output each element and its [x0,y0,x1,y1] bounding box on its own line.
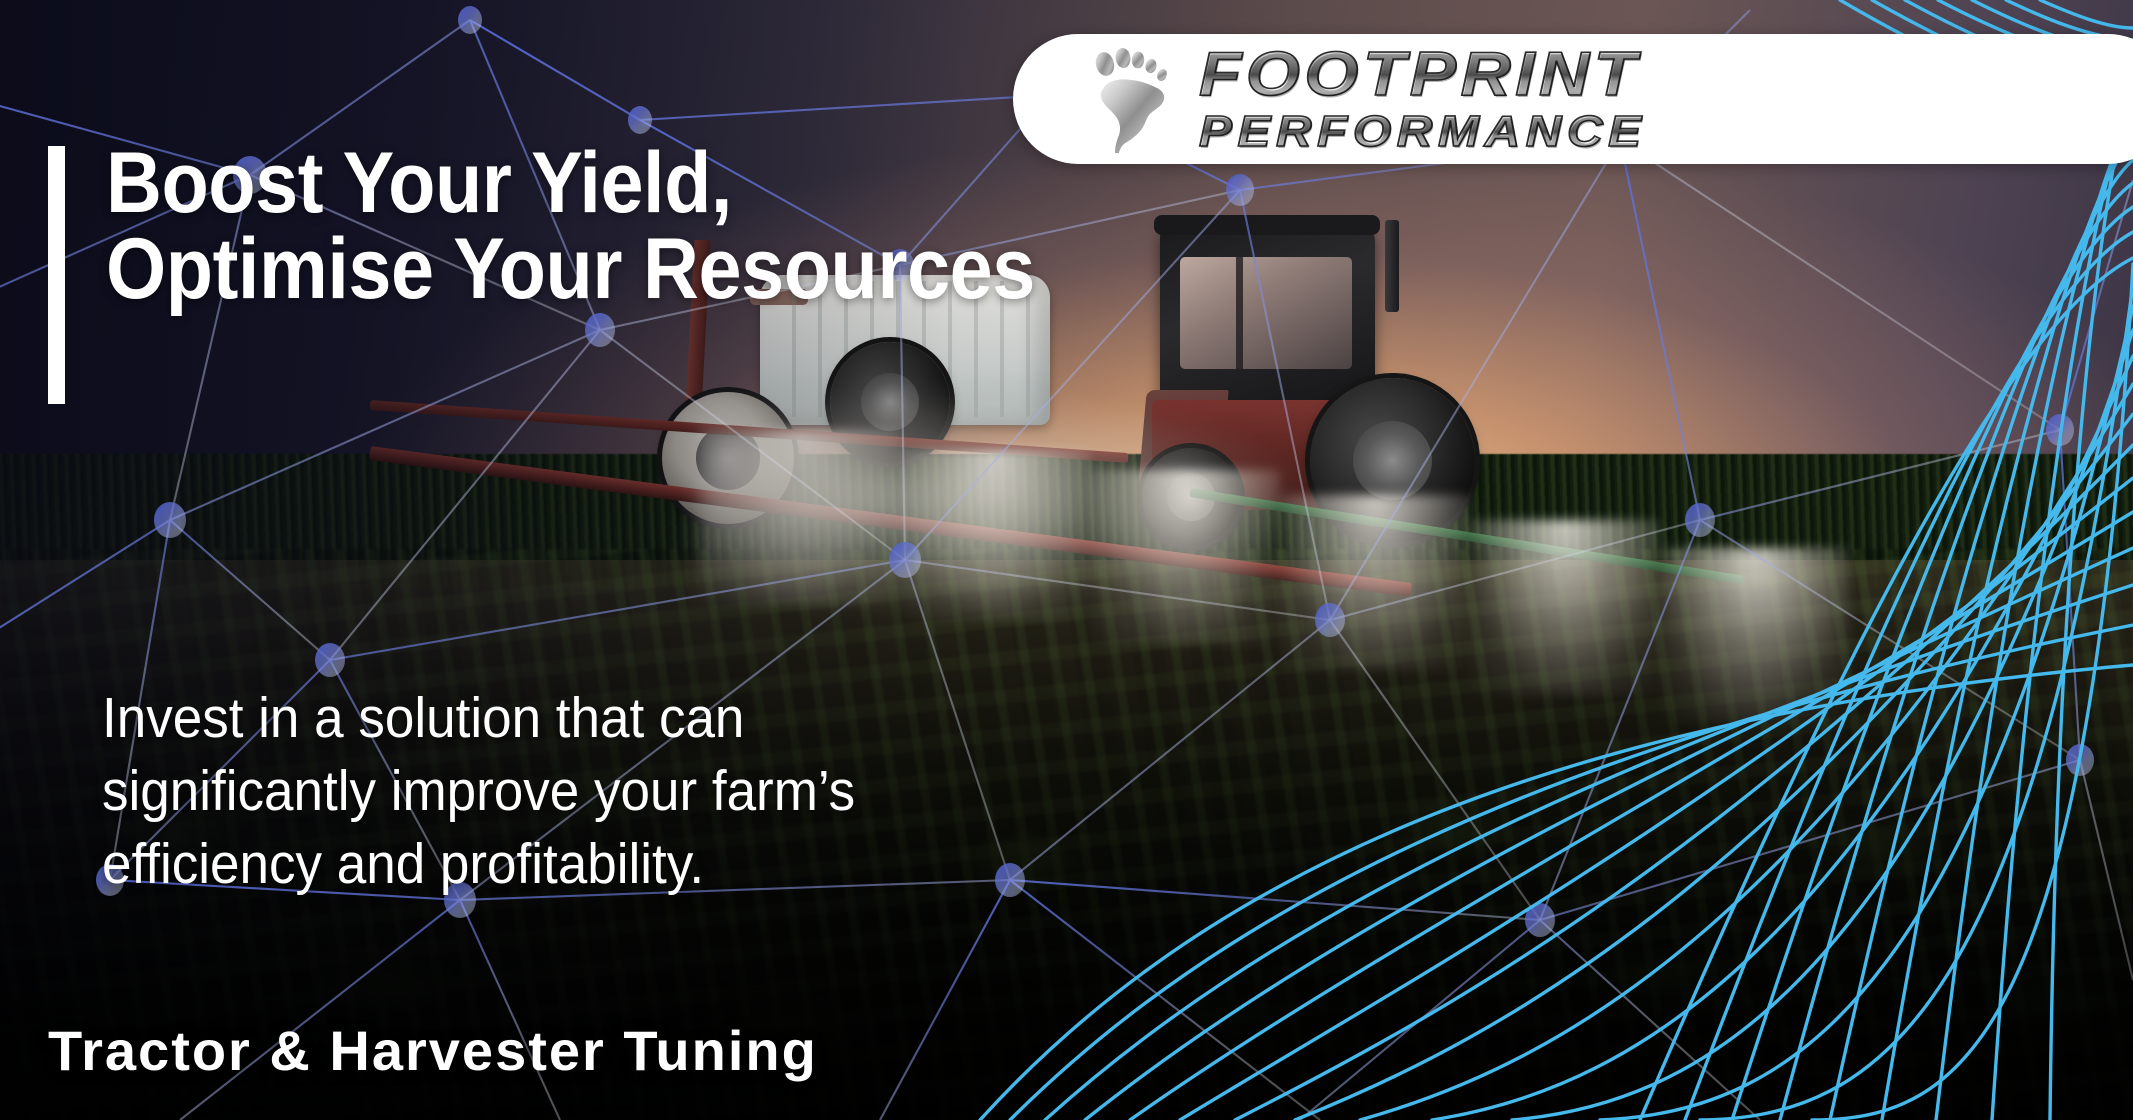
logo-wordmark: FOOTPRINT PERFORMANCE [1199,44,1599,154]
subheading-copy: Invest in a solution that can significan… [102,682,855,901]
logo-line-footprint: FOOTPRINT [1199,44,1647,106]
headline-accent-bar [48,146,65,404]
brand-logo[interactable]: FOOTPRINT PERFORMANCE [1013,34,2133,164]
page-title: Boost Your Yield, Optimise Your Resource… [106,140,1035,312]
marketing-banner: Boost Your Yield, Optimise Your Resource… [0,0,2133,1120]
africa-footprint-icon [1091,44,1177,154]
logo-line-performance: PERFORMANCE [1199,110,1647,154]
service-tagline: Tractor & Harvester Tuning [48,1018,818,1083]
